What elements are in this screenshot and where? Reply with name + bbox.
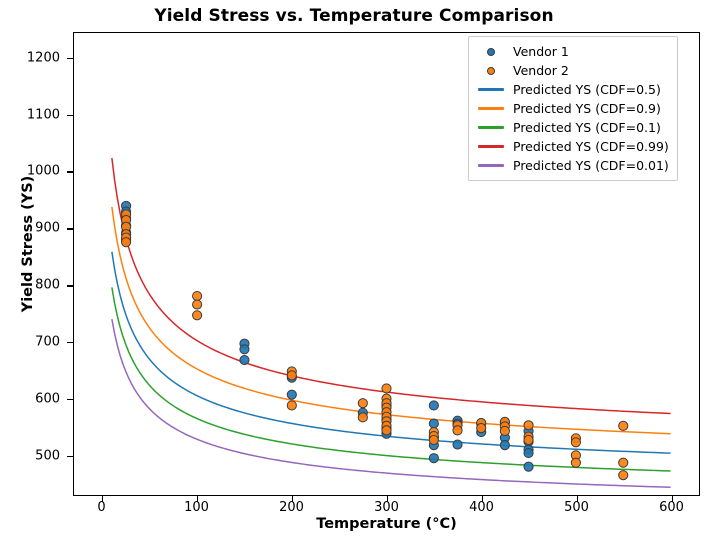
x-tick-label: 0 — [72, 500, 132, 515]
data-point — [571, 438, 580, 447]
data-point — [619, 471, 628, 480]
legend-item[interactable]: Predicted YS (CDF=0.01) — [475, 156, 669, 175]
data-point — [358, 413, 367, 422]
x-tick-mark — [102, 496, 103, 502]
legend-item[interactable]: Vendor 2 — [475, 61, 669, 80]
legend-line-icon — [475, 145, 507, 147]
data-point — [193, 291, 202, 300]
x-tick-mark — [482, 496, 483, 502]
data-point — [193, 311, 202, 320]
data-point — [619, 458, 628, 467]
legend-marker-icon — [475, 48, 507, 56]
legend-swatch — [478, 107, 504, 109]
y-tick-label: 1200 — [0, 50, 60, 65]
x-tick-label: 600 — [642, 500, 702, 515]
legend-swatch — [478, 145, 504, 147]
data-point — [287, 390, 296, 399]
x-tick-label: 200 — [262, 500, 322, 515]
data-point — [429, 419, 438, 428]
y-tick-label: 1000 — [0, 164, 60, 179]
data-point — [382, 384, 391, 393]
data-point — [358, 399, 367, 408]
data-point — [240, 345, 249, 354]
data-point — [524, 448, 533, 457]
x-tick-mark — [672, 496, 673, 502]
legend-label: Predicted YS (CDF=0.1) — [507, 120, 661, 135]
data-point — [453, 440, 462, 449]
data-point — [429, 435, 438, 444]
y-tick-label: 700 — [0, 335, 60, 350]
data-point — [500, 426, 509, 435]
legend-swatch — [478, 88, 504, 90]
data-point — [287, 371, 296, 380]
y-tick-label: 1100 — [0, 107, 60, 122]
data-point — [524, 462, 533, 471]
x-tick-mark — [387, 496, 388, 502]
data-point — [429, 454, 438, 463]
legend-line-icon — [475, 107, 507, 109]
x-axis-label: Temperature (°C) — [73, 516, 700, 532]
y-axis-label: Yield Stress (YS) — [20, 124, 36, 364]
y-tick-label: 900 — [0, 221, 60, 236]
legend-line-icon — [475, 88, 507, 90]
legend-swatch — [487, 67, 495, 75]
prediction-curve — [112, 158, 671, 414]
x-tick-label: 100 — [167, 500, 227, 515]
legend-label: Predicted YS (CDF=0.99) — [507, 139, 669, 154]
data-point — [287, 401, 296, 410]
data-point — [524, 435, 533, 444]
x-tick-label: 400 — [452, 500, 512, 515]
data-point — [524, 421, 533, 430]
data-point — [193, 300, 202, 309]
figure: Yield Stress vs. Temperature Comparison … — [0, 0, 708, 552]
legend-label: Predicted YS (CDF=0.5) — [507, 82, 661, 97]
data-point — [571, 458, 580, 467]
legend-swatch — [478, 164, 504, 166]
legend-item[interactable]: Predicted YS (CDF=0.99) — [475, 137, 669, 156]
data-point — [121, 238, 130, 247]
data-point — [619, 421, 628, 430]
x-tick-label: 300 — [357, 500, 417, 515]
legend-label: Predicted YS (CDF=0.9) — [507, 101, 661, 116]
x-tick-mark — [577, 496, 578, 502]
data-point — [453, 426, 462, 435]
x-tick-mark — [292, 496, 293, 502]
legend: Vendor 1Vendor 2Predicted YS (CDF=0.5)Pr… — [468, 36, 678, 181]
x-tick-label: 500 — [547, 500, 607, 515]
legend-swatch — [478, 126, 504, 128]
x-tick-mark — [197, 496, 198, 502]
legend-line-icon — [475, 164, 507, 166]
data-point — [382, 426, 391, 435]
legend-marker-icon — [475, 67, 507, 75]
page-title: Yield Stress vs. Temperature Comparison — [0, 6, 708, 26]
data-point — [477, 424, 486, 433]
y-tick-label: 800 — [0, 278, 60, 293]
data-point — [240, 356, 249, 365]
legend-line-icon — [475, 126, 507, 128]
y-tick-label: 500 — [0, 449, 60, 464]
legend-item[interactable]: Predicted YS (CDF=0.9) — [475, 99, 669, 118]
legend-label: Vendor 2 — [507, 63, 569, 78]
legend-label: Vendor 1 — [507, 44, 569, 59]
legend-item[interactable]: Vendor 1 — [475, 42, 669, 61]
legend-swatch — [487, 48, 495, 56]
legend-item[interactable]: Predicted YS (CDF=0.1) — [475, 118, 669, 137]
data-point — [500, 441, 509, 450]
data-point — [429, 401, 438, 410]
legend-item[interactable]: Predicted YS (CDF=0.5) — [475, 80, 669, 99]
y-tick-label: 600 — [0, 392, 60, 407]
legend-label: Predicted YS (CDF=0.01) — [507, 158, 669, 173]
